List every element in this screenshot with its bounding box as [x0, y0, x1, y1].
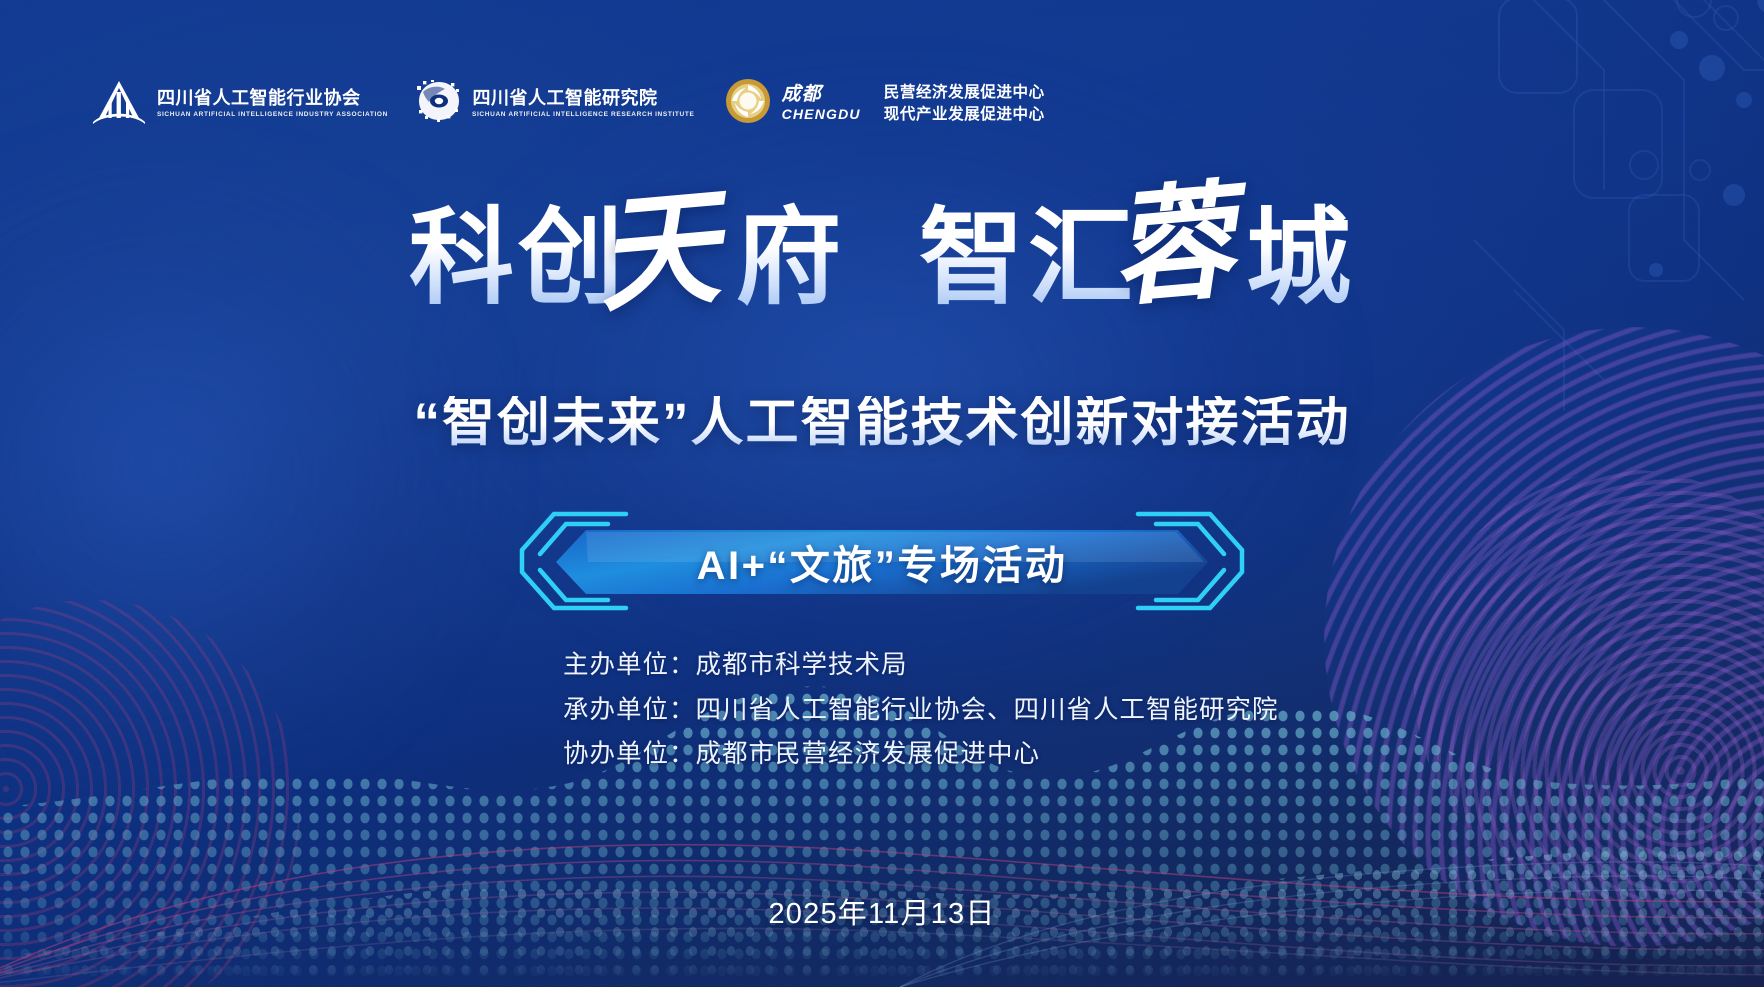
- brush-char-rong: 蓉: [1106, 177, 1237, 313]
- brush-char-tian: 天: [592, 183, 723, 319]
- organizer-list: 主办单位：成都市科学技术局 承办单位：四川省人工智能行业协会、四川省人工智能研究…: [563, 650, 1279, 770]
- chengdu-sunbird-icon: [725, 78, 771, 129]
- logo-sichuan-ai-research-institute: 四川省人工智能研究院 SICHUAN ARTIFICIAL INTELLIGEN…: [417, 80, 690, 127]
- organizer-undertaker: 承办单位：四川省人工智能行业协会、四川省人工智能研究院: [563, 695, 1279, 726]
- badge-label: AI+“文旅”专场活动: [508, 508, 1256, 616]
- logo-cn-name: 四川省人工智能研究院: [472, 88, 690, 109]
- headline-group-1: 科创天府 天: [409, 206, 845, 311]
- logo-en-name: CHENGDU: [782, 107, 861, 122]
- event-date: 2025年11月13日: [0, 890, 1764, 932]
- logo-text-block: 成都 CHENGDU: [782, 85, 861, 122]
- logo-text-block: 四川省人工智能研究院 SICHUAN ARTIFICIAL INTELLIGEN…: [472, 88, 690, 119]
- logo-text-block: 四川省人工智能行业协会 SICHUAN ARTIFICIAL INTELLIGE…: [157, 88, 383, 119]
- page-title: 科创天府 天 智汇蓉城 蓉: [0, 206, 1764, 311]
- logo-line-2: 现代产业发展促进中心: [884, 106, 1045, 124]
- pixel-globe-icon: [417, 80, 461, 127]
- logo-cn-name: 四川省人工智能行业协会: [157, 88, 383, 109]
- logo-chengdu-promotion-center: 成都 CHENGDU 民营经济发展促进中心 现代产业发展促进中心: [725, 78, 1045, 129]
- sponsor-logo-bar: 四川省人工智能行业协会 SICHUAN ARTIFICIAL INTELLIGE…: [92, 78, 1045, 129]
- event-poster: 四川省人工智能行业协会 SICHUAN ARTIFICIAL INTELLIGE…: [0, 0, 1764, 987]
- logo-subtitle-lines: 民营经济发展促进中心 现代产业发展促进中心: [884, 84, 1045, 124]
- logo-en-name: SICHUAN ARTIFICIAL INTELLIGENCE RESEARCH…: [472, 111, 694, 119]
- background-decorations: [0, 0, 1764, 987]
- organizer-host: 主办单位：成都市科学技术局: [563, 650, 1279, 681]
- logo-line-1: 民营经济发展促进中心: [884, 84, 1045, 102]
- headline-inner: 科创天府 天 智汇蓉城 蓉: [409, 206, 1355, 311]
- logo-sichuan-ai-industry-association: 四川省人工智能行业协会 SICHUAN ARTIFICIAL INTELLIGE…: [92, 78, 383, 129]
- status-badge: AI+“文旅”专场活动: [508, 508, 1256, 616]
- page-subtitle: “智创未来”人工智能技术创新对接活动: [0, 396, 1764, 449]
- logo-cn-name: 成都: [782, 85, 861, 105]
- bridge-arch-icon: [92, 78, 146, 129]
- headline-group-2: 智汇蓉城 蓉: [919, 206, 1355, 311]
- logo-en-name: SICHUAN ARTIFICIAL INTELLIGENCE INDUSTRY…: [157, 111, 388, 119]
- organizer-coorganizer: 协办单位：成都市民营经济发展促进中心: [563, 739, 1279, 770]
- purple-swirl-right-secondary: [1414, 470, 1764, 900]
